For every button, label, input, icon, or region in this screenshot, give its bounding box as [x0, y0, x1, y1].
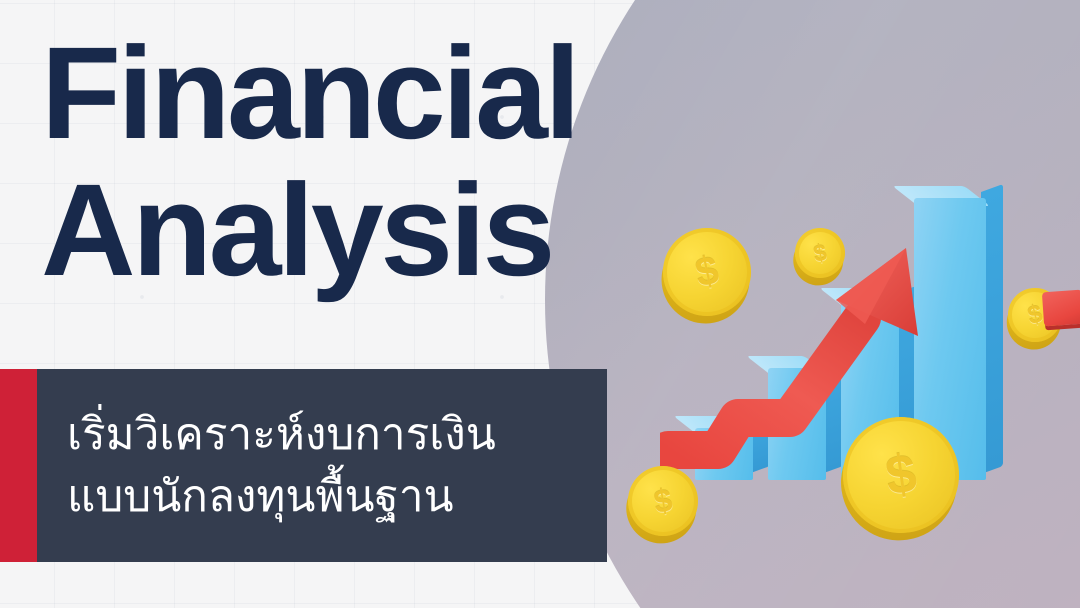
coin-small-top: $ — [791, 224, 849, 282]
coin-large-left: $ — [655, 220, 759, 324]
coin-dollar-icon: $ — [835, 409, 966, 540]
subtitle-text: เริ่มวิเคราะห์งบการเงิน แบบนักลงทุนพื้นฐ… — [37, 369, 607, 562]
coin-dollar-icon: $ — [655, 220, 759, 324]
coin-bottom-left: $ — [622, 460, 703, 541]
coin-large-bottom: $ — [835, 409, 966, 540]
subtitle-panel: เริ่มวิเคราะห์งบการเงิน แบบนักลงทุนพื้นฐ… — [37, 369, 607, 562]
page-title: Financial Analysis — [41, 24, 661, 298]
slide-canvas: $ $ $ $ $ Financial Analysis เริ่มวิเครา… — [0, 0, 1080, 608]
coin-dollar-icon: $ — [791, 224, 849, 282]
accent-bar — [0, 369, 37, 562]
coin-dollar-icon: $ — [622, 460, 703, 541]
red-chip-decoration — [1042, 290, 1080, 327]
